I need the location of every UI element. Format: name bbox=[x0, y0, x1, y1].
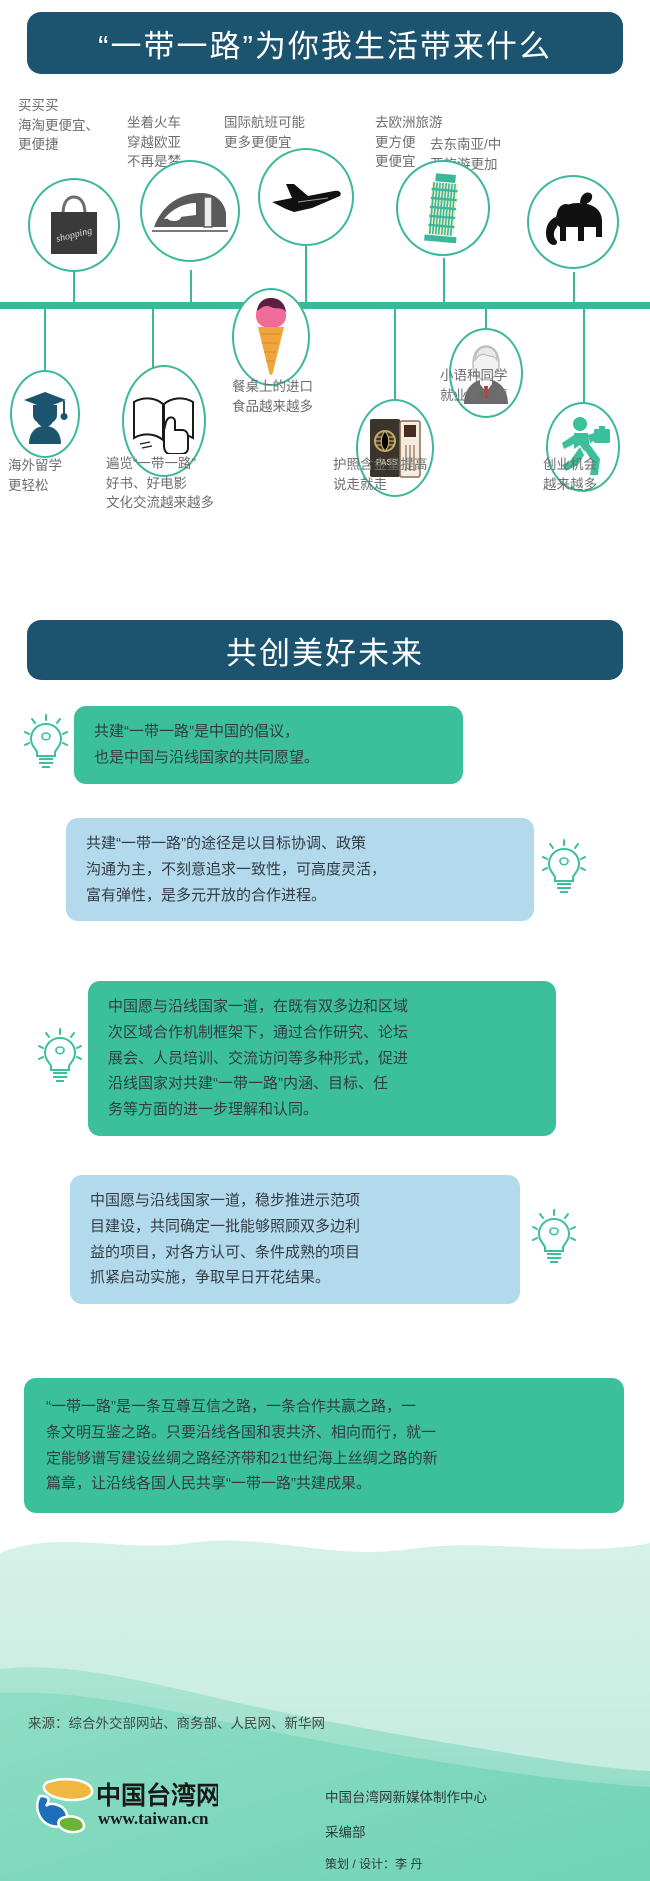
lightbulb-icon bbox=[532, 1209, 576, 1270]
ice-cream-icon bbox=[246, 296, 296, 378]
message-text-1: 共建“一带一路”是中国的倡议， 也是中国与沿线国家的共同愿望。 bbox=[74, 706, 463, 784]
connector-top-3 bbox=[305, 240, 307, 304]
message-row-2: 共建“一带一路”的途径是以目标协调、政策 沟通为主，不刻意追求一致性，可高度灵活… bbox=[0, 818, 650, 921]
caption-top-1: 买买买 海淘更便宜、 更便捷 bbox=[18, 96, 99, 155]
lightbulb-icon bbox=[542, 839, 586, 900]
credit-person: 策划 / 设计：李 丹 bbox=[325, 1858, 422, 1871]
caption-bottom-3: 餐桌上的进口 食品越来越多 bbox=[232, 377, 313, 416]
message-row-1: 共建“一带一路”是中国的倡议， 也是中国与沿线国家的共同愿望。 bbox=[0, 706, 650, 784]
message-row-3: 中国愿与沿线国家一道，在既有双多边和区域 次区域合作机制框架下，通过合作研究、论… bbox=[0, 981, 650, 1136]
caption-bottom-4: 护照含金量提高 说走就走 bbox=[333, 455, 428, 494]
message-text-4: 中国愿与沿线国家一道，稳步推进示范项 目建设，共同确定一批能够照顾双多边利 益的… bbox=[70, 1175, 520, 1304]
connector-top-1 bbox=[73, 270, 75, 304]
shopping-bag-icon: shopping bbox=[43, 192, 105, 258]
connector-bottom-2 bbox=[152, 309, 154, 375]
timeline-bar bbox=[0, 302, 650, 309]
caption-bottom-2: 遍览“一带一路” 好书、好电影 文化交流越来越多 bbox=[106, 454, 214, 513]
logo-url-text: www.taiwan.cn bbox=[98, 1809, 209, 1828]
lightbulb-icon bbox=[24, 714, 68, 775]
airplane-icon bbox=[268, 176, 344, 218]
taiwan-net-logo-icon[interactable]: 中国台湾网 www.taiwan.cn bbox=[28, 1772, 218, 1838]
node-icon-train bbox=[140, 160, 240, 262]
site-logo[interactable]: 中国台湾网 www.taiwan.cn bbox=[28, 1772, 218, 1838]
connector-top-2 bbox=[190, 270, 192, 304]
leaning-tower-icon bbox=[417, 170, 469, 246]
message-text-3: 中国愿与沿线国家一道，在既有双多边和区域 次区域合作机制框架下，通过合作研究、论… bbox=[88, 981, 556, 1136]
node-icon-leaning-tower bbox=[396, 160, 490, 256]
main-title-text: “一带一路”为你我生活带来什么 bbox=[98, 21, 552, 66]
node-icon-graduate bbox=[10, 370, 80, 458]
message-row-5: “一带一路”是一条互尊互信之路，一条合作共赢之路，一 条文明互鉴之路。只要沿线各… bbox=[0, 1378, 650, 1513]
graduate-icon bbox=[20, 384, 70, 444]
connector-bottom-6 bbox=[583, 309, 585, 407]
connector-bottom-4 bbox=[394, 309, 396, 404]
message-text-2: 共建“一带一路”的途径是以目标协调、政策 沟通为主，不刻意追求一致性，可高度灵活… bbox=[66, 818, 534, 921]
high-speed-train-icon bbox=[150, 185, 230, 237]
caption-bottom-6: 创业机会 越来越多 bbox=[543, 455, 597, 494]
caption-bottom-1: 海外留学 更轻松 bbox=[8, 456, 62, 495]
infographic-page: “一带一路”为你我生活带来什么 买买买 海淘更便宜、 更便捷 坐着火车 穿越欧亚… bbox=[0, 0, 650, 1881]
connector-top-5 bbox=[573, 272, 575, 304]
message-text-5: “一带一路”是一条互尊互信之路，一条合作共赢之路，一 条文明互鉴之路。只要沿线各… bbox=[24, 1378, 624, 1513]
node-icon-elephant bbox=[527, 175, 619, 269]
secondary-title-text: 共创美好未来 bbox=[226, 628, 424, 673]
connector-top-4 bbox=[443, 258, 445, 304]
elephant-icon bbox=[536, 191, 610, 253]
node-icon-shopping-bag: shopping bbox=[28, 178, 120, 272]
open-book-icon bbox=[130, 388, 198, 454]
credit-org: 中国台湾网新媒体制作中心 bbox=[325, 1791, 487, 1806]
caption-bottom-5: 小语种同学 就业更方便 bbox=[440, 366, 508, 405]
node-icon-airplane bbox=[258, 148, 354, 246]
source-line: 来源：综合外交部网站、商务部、人民网、新华网 bbox=[28, 1712, 325, 1732]
logo-name-text: 中国台湾网 bbox=[96, 1781, 218, 1810]
lightbulb-icon bbox=[38, 1028, 82, 1089]
secondary-title-banner: 共创美好未来 bbox=[27, 620, 623, 680]
credit-dept: 采编部 bbox=[325, 1826, 366, 1841]
caption-top-3: 国际航班可能 更多更便宜 bbox=[224, 113, 305, 152]
node-icon-ice-cream bbox=[232, 288, 310, 386]
main-title-banner: “一带一路”为你我生活带来什么 bbox=[27, 12, 623, 74]
message-row-4: 中国愿与沿线国家一道，稳步推进示范项 目建设，共同确定一批能够照顾双多边利 益的… bbox=[0, 1175, 650, 1304]
